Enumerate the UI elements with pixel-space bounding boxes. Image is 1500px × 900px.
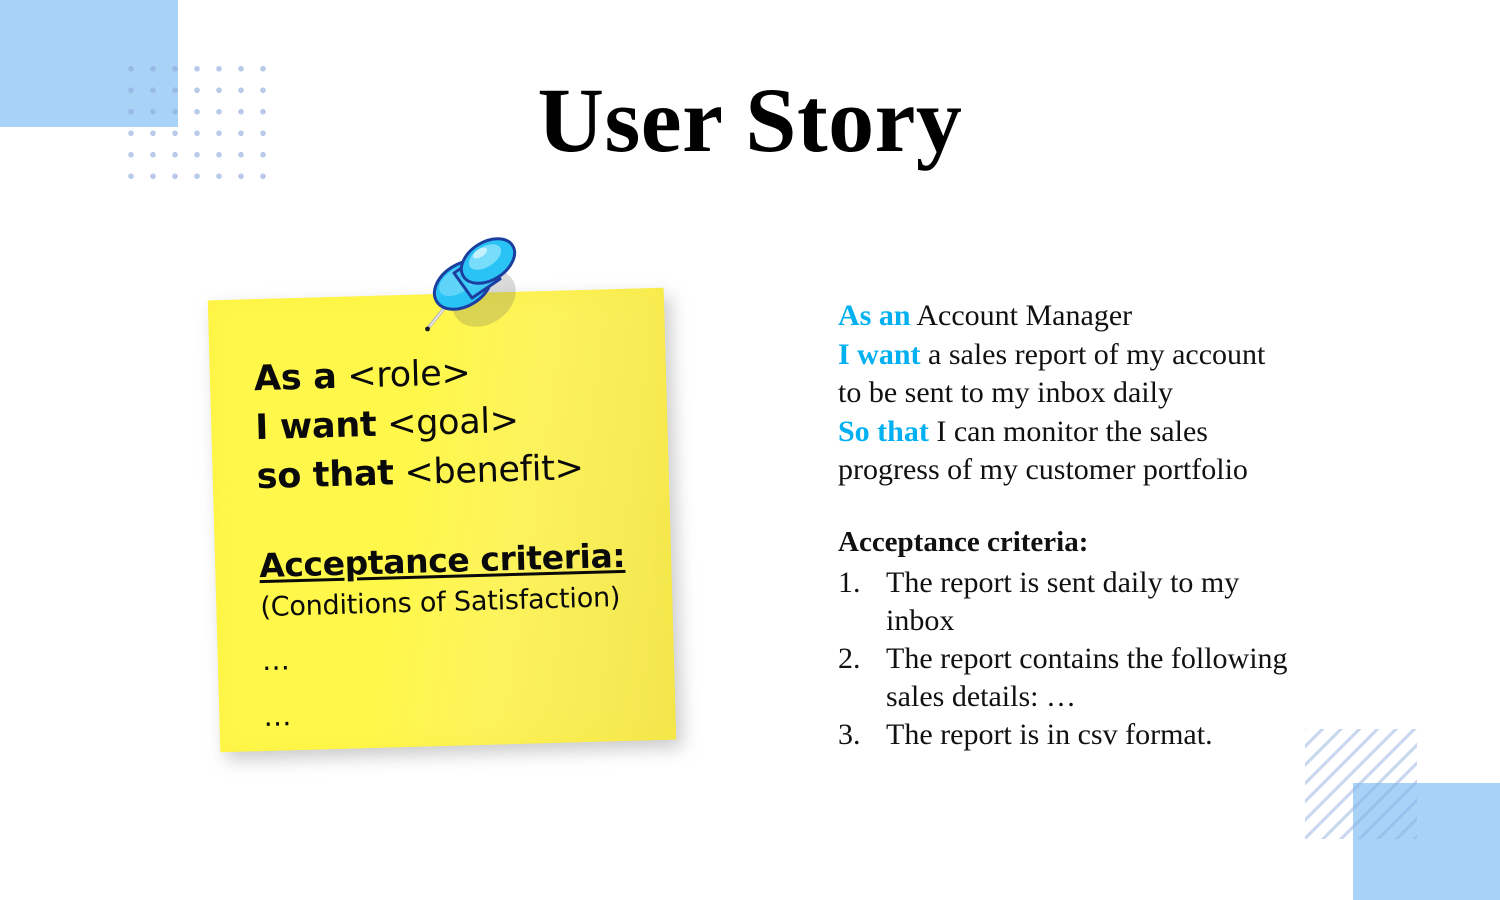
sticky-note-paper: As a <role> I want <goal> so that <benef… [208, 288, 676, 753]
story-line-3: to be sent to my inbox daily [838, 374, 1358, 413]
acceptance-item-number: 1. [838, 564, 886, 640]
acceptance-list-item: 3. The report is in csv format. [838, 716, 1358, 754]
sticky-note: As a <role> I want <goal> so that <benef… [208, 288, 676, 753]
acceptance-item-number: 2. [838, 640, 886, 716]
example-acceptance-list: 1. The report is sent daily to my inbox … [838, 564, 1358, 754]
story-text-1: Account Manager [911, 299, 1133, 332]
story-text-3: to be sent to my inbox daily [838, 376, 1173, 409]
note-line-2-placeholder: <goal> [387, 401, 520, 445]
story-line-4: So that I can monitor the sales [838, 413, 1358, 452]
example-acceptance-title: Acceptance criteria: [838, 522, 1358, 562]
story-keyword-so-that: So that [838, 415, 929, 448]
acceptance-item-number: 3. [838, 716, 886, 754]
pushpin-icon [408, 232, 526, 350]
sticky-note-content: As a <role> I want <goal> so that <benef… [253, 344, 658, 740]
acceptance-list-item: 1. The report is sent daily to my inbox [838, 564, 1358, 640]
story-keyword-i-want: I want [838, 338, 921, 371]
story-line-1: As an Account Manager [838, 297, 1358, 336]
note-line-2-keyword: I want [255, 405, 377, 448]
slide-canvas: User Story As a <role> I want <goal> so … [0, 0, 1500, 900]
acceptance-list-item: 2. The report contains the following sal… [838, 640, 1358, 716]
note-line-1-keyword: As a [253, 357, 337, 399]
note-line-3-placeholder: <benefit> [404, 448, 584, 493]
note-line-1-placeholder: <role> [347, 353, 471, 396]
story-keyword-as-an: As an [838, 299, 911, 332]
acceptance-item-text: The report is sent daily to my inbox [886, 564, 1298, 640]
example-story-panel: As an Account Manager I want a sales rep… [838, 297, 1358, 754]
page-title: User Story [0, 72, 1500, 169]
story-text-4: I can monitor the sales [929, 415, 1208, 448]
acceptance-item-text: The report is in csv format. [886, 716, 1298, 754]
story-text-2: a sales report of my account [921, 338, 1266, 371]
acceptance-item-text: The report contains the following sales … [886, 640, 1298, 716]
story-line-2: I want a sales report of my account [838, 336, 1358, 375]
decorative-stripes-overlay-bottom-right [1353, 783, 1417, 839]
story-text-5: progress of my customer portfolio [838, 453, 1248, 486]
note-bullet-1: … [261, 627, 656, 684]
story-line-5: progress of my customer portfolio [838, 451, 1358, 490]
note-bullet-2: … [263, 683, 658, 740]
note-line-3-keyword: so that [256, 453, 394, 497]
example-spacer [838, 490, 1358, 522]
